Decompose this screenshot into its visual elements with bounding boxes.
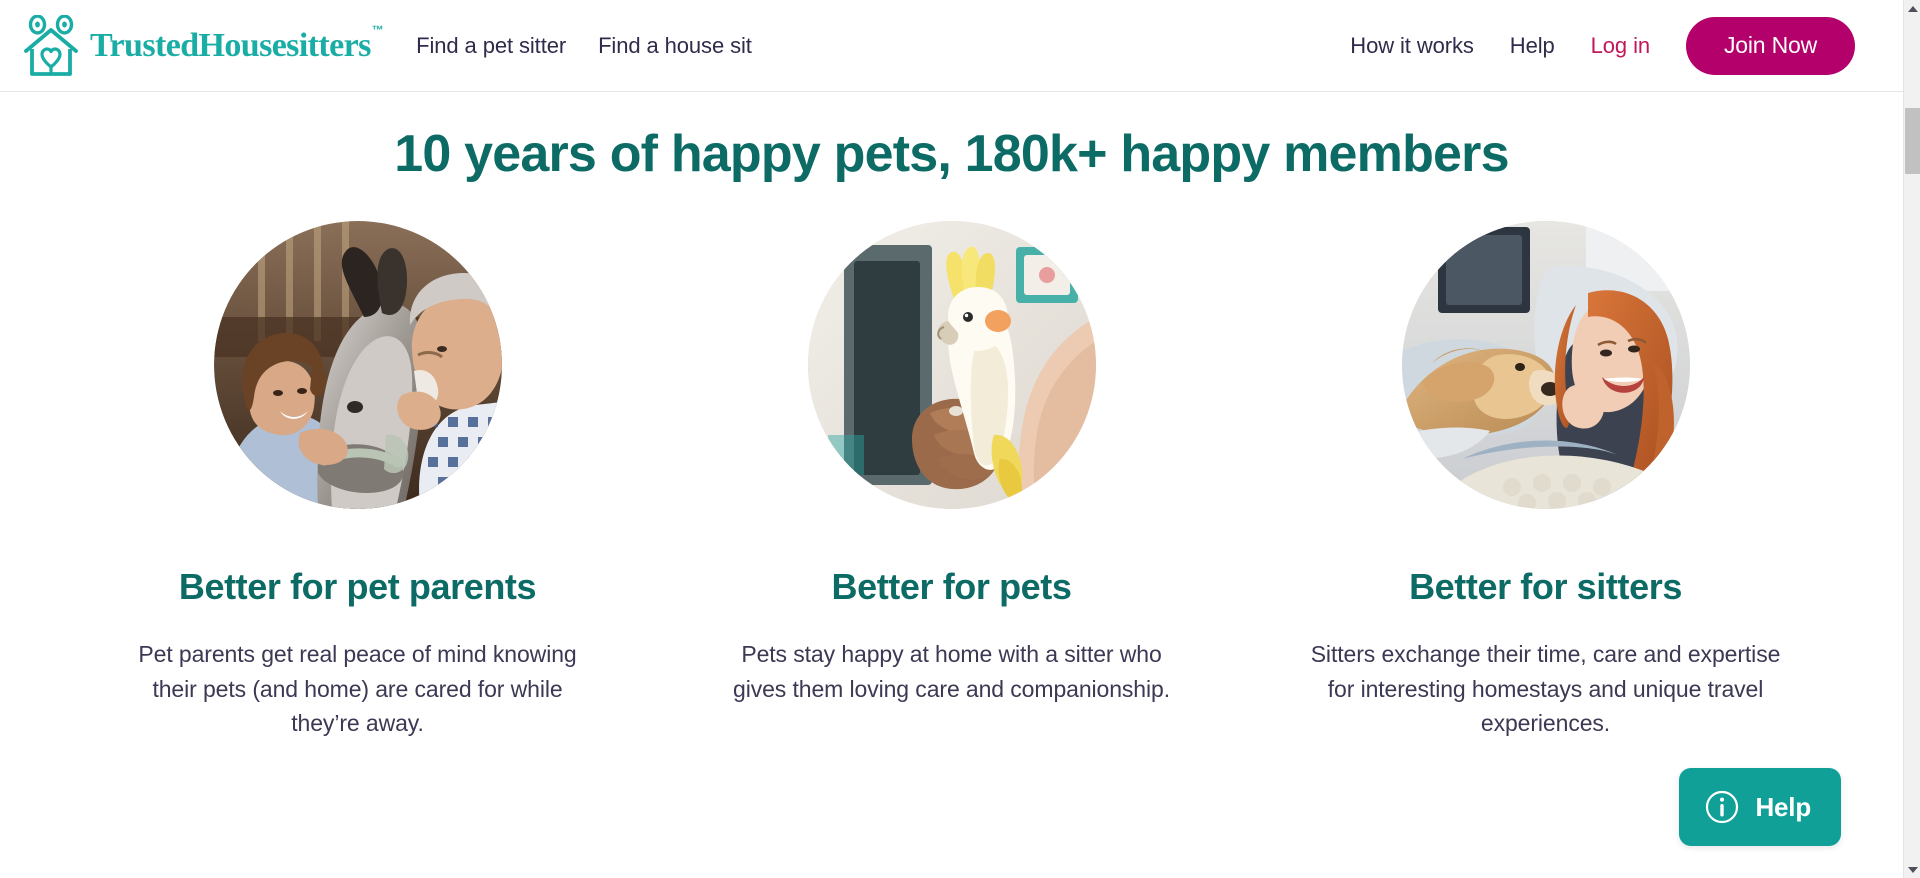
scroll-up-arrow-icon[interactable] bbox=[1904, 0, 1920, 17]
page-content: TrustedHousesitters™ Find a pet sitter F… bbox=[0, 0, 1903, 878]
header-right-nav: How it works Help Log in Join Now bbox=[1350, 17, 1903, 75]
login-link[interactable]: Log in bbox=[1591, 33, 1650, 59]
brand-name-text: TrustedHousesitters bbox=[90, 27, 371, 64]
brand-wordmark: TrustedHousesitters™ bbox=[90, 29, 382, 63]
card-photo-sitters bbox=[1402, 221, 1690, 509]
nav-help[interactable]: Help bbox=[1510, 33, 1555, 59]
benefit-cards: Better for pet parents Pet parents get r… bbox=[0, 185, 1903, 741]
card-title-pet-parents: Better for pet parents bbox=[179, 565, 536, 608]
card-photo-pets bbox=[808, 221, 1096, 509]
card-photo-pet-parents bbox=[214, 221, 502, 509]
nav-how-it-works[interactable]: How it works bbox=[1350, 33, 1474, 59]
help-widget-button[interactable]: Help bbox=[1679, 768, 1841, 846]
main-content: 10 years of happy pets, 180k+ happy memb… bbox=[0, 92, 1903, 741]
benefit-card-pet-parents: Better for pet parents Pet parents get r… bbox=[103, 221, 613, 741]
primary-nav: Find a pet sitter Find a house sit bbox=[416, 33, 752, 59]
house-heart-logo-icon bbox=[22, 15, 80, 77]
card-title-pets: Better for pets bbox=[831, 565, 1071, 608]
card-text-pets: Pets stay happy at home with a sitter wh… bbox=[717, 637, 1187, 707]
info-circle-icon bbox=[1705, 790, 1739, 824]
card-title-sitters: Better for sitters bbox=[1409, 565, 1682, 608]
site-header: TrustedHousesitters™ Find a pet sitter F… bbox=[0, 0, 1903, 92]
help-widget-label: Help bbox=[1755, 792, 1811, 823]
browser-viewport: TrustedHousesitters™ Find a pet sitter F… bbox=[0, 0, 1920, 878]
card-text-pet-parents: Pet parents get real peace of mind knowi… bbox=[138, 637, 578, 742]
card-text-sitters: Sitters exchange their time, care and ex… bbox=[1311, 637, 1781, 742]
brand-trademark-symbol: ™ bbox=[372, 23, 383, 37]
benefit-card-pets: Better for pets Pets stay happy at home … bbox=[697, 221, 1207, 706]
join-now-button[interactable]: Join Now bbox=[1686, 17, 1855, 75]
brand-logo-link[interactable]: TrustedHousesitters™ bbox=[22, 15, 382, 77]
nav-find-a-pet-sitter[interactable]: Find a pet sitter bbox=[416, 33, 566, 59]
scrollbar-thumb[interactable] bbox=[1905, 108, 1920, 174]
benefit-card-sitters: Better for sitters Sitters exchange thei… bbox=[1291, 221, 1801, 741]
scroll-down-arrow-icon[interactable] bbox=[1904, 861, 1920, 878]
page-title: 10 years of happy pets, 180k+ happy memb… bbox=[0, 112, 1903, 185]
nav-find-a-house-sit[interactable]: Find a house sit bbox=[598, 33, 752, 59]
vertical-scrollbar[interactable] bbox=[1903, 0, 1920, 878]
